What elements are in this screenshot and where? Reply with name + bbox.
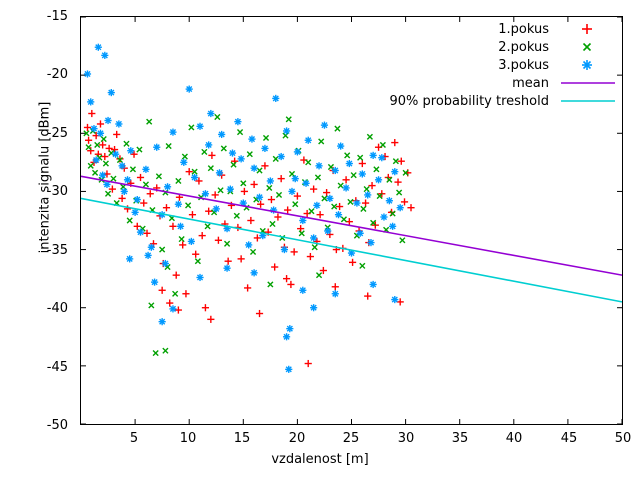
line-marker-icon-threshold: [559, 93, 617, 109]
legend-label: 90% probability treshold: [389, 94, 559, 109]
x-tick-label: 40: [494, 432, 534, 445]
legend-label: mean: [512, 76, 559, 91]
asterisk-marker-icon: [559, 57, 617, 73]
x-tick-label: 25: [331, 432, 371, 445]
cross-marker-icon: [559, 39, 617, 55]
legend-item-3pokus: 3.pokus: [322, 56, 617, 74]
x-tick-label: 50: [603, 432, 640, 445]
legend-item-2pokus: 2.pokus: [322, 38, 617, 56]
x-tick-label: 5: [114, 432, 154, 445]
y-tick-label: -15: [16, 10, 68, 23]
legend-item-mean: mean: [322, 74, 617, 92]
fit-lines: [81, 176, 622, 302]
line-mean: [81, 176, 622, 275]
legend-label: 2.pokus: [498, 40, 559, 55]
plus-marker-icon: [559, 21, 617, 37]
y-tick-label: -30: [16, 185, 68, 198]
x-tick-label: 30: [386, 432, 426, 445]
line-marker-icon-mean: [559, 75, 617, 91]
chart-canvas: intenzita signalu [dBm] -15 -20 -25 -30 …: [0, 0, 640, 480]
legend-label: 3.pokus: [498, 58, 559, 73]
y-tick-label: -50: [16, 419, 68, 432]
y-tick-label: -35: [16, 244, 68, 257]
y-tick-label: -25: [16, 127, 68, 140]
legend-item-1pokus: 1.pokus: [322, 20, 617, 38]
x-tick-label: 35: [440, 432, 480, 445]
x-tick-label: 10: [168, 432, 208, 445]
x-tick-label: 20: [277, 432, 317, 445]
y-tick-label: -40: [16, 302, 68, 315]
legend-label: 1.pokus: [498, 22, 559, 37]
y-tick-label: -20: [16, 68, 68, 81]
legend: 1.pokus 2.pokus 3.pokus mean: [322, 20, 617, 110]
x-tick-label: 45: [549, 432, 589, 445]
y-tick-label: -45: [16, 361, 68, 374]
x-axis-label: vzdalenost [m]: [0, 452, 640, 467]
legend-item-threshold: 90% probability treshold: [322, 92, 617, 110]
x-tick-label: 15: [222, 432, 262, 445]
